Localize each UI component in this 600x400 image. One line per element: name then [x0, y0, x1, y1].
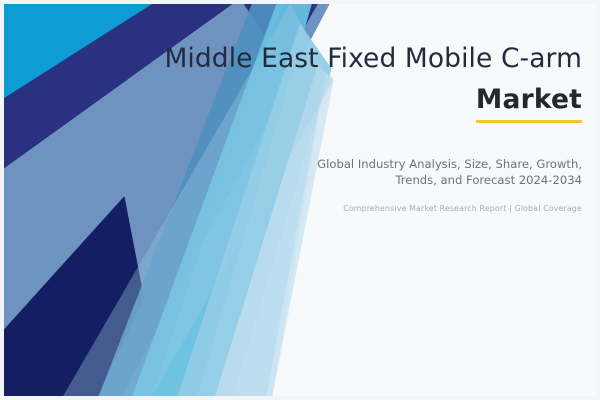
report-cover: Middle East Fixed Mobile C-arm Market Gl… [0, 0, 600, 400]
abstract-diagonal-polygons-artwork [4, 4, 596, 396]
